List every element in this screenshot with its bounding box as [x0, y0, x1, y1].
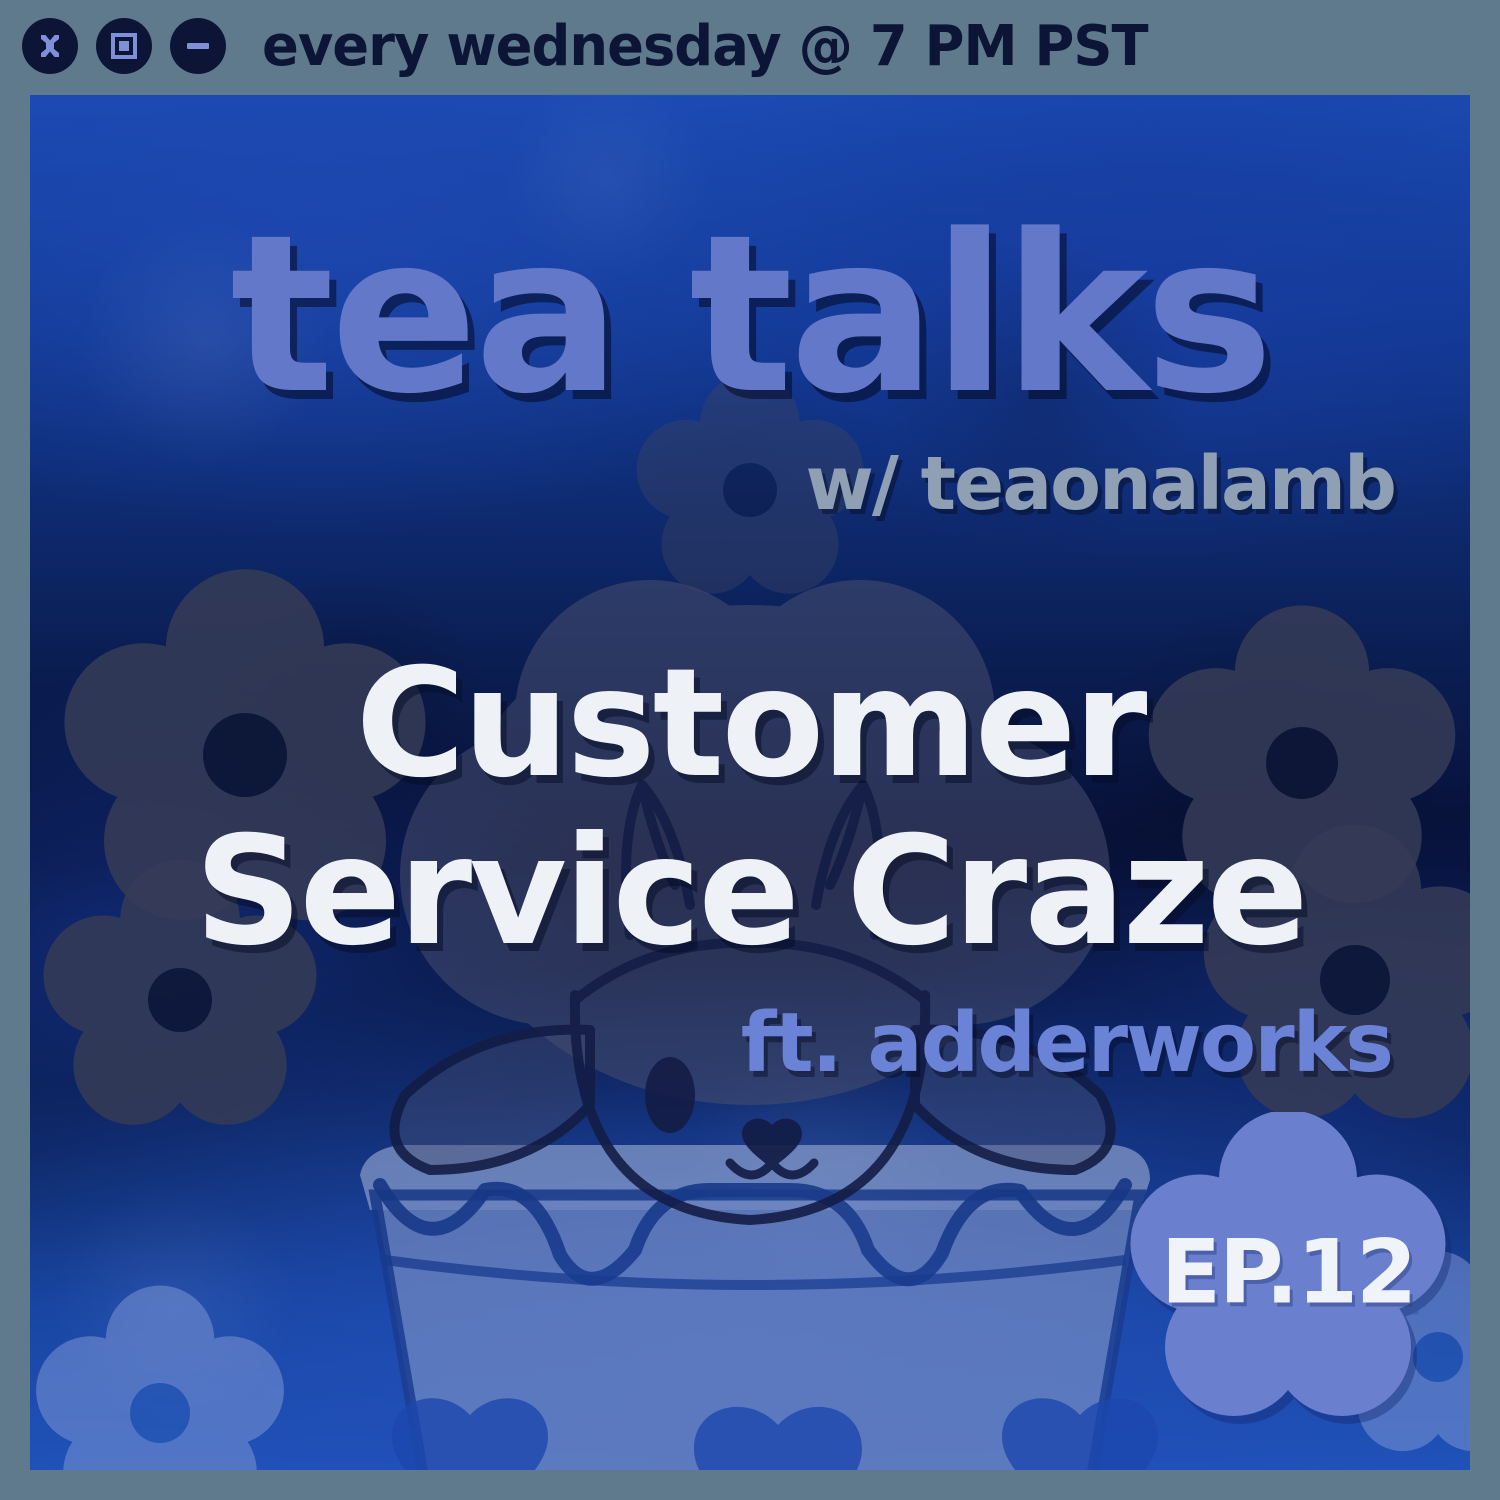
flower-bottom-left — [36, 1286, 284, 1470]
window-title: every wednesday @ 7 PM PST — [262, 14, 1148, 79]
x-icon — [35, 31, 65, 61]
window-frame: every wednesday @ 7 PM PST — [0, 0, 1500, 1500]
poster-artwork-panel: tea talks w/ teaonalamb Customer Service… — [30, 95, 1470, 1470]
square-icon — [109, 31, 139, 61]
show-title: tea talks — [30, 207, 1470, 425]
guest-credit: ft. adderworks — [741, 1003, 1392, 1085]
episode-badge-label: EP.12 — [1128, 1221, 1448, 1324]
minimize-button[interactable] — [170, 18, 226, 74]
episode-badge: EP.12 — [1128, 1112, 1448, 1432]
maximize-button[interactable] — [96, 18, 152, 74]
episode-title: Customer Service Craze — [30, 640, 1470, 976]
host-credit: w/ teaonalamb — [806, 447, 1396, 521]
close-button[interactable] — [22, 18, 78, 74]
title-bar: every wednesday @ 7 PM PST — [0, 0, 1500, 92]
minus-icon — [183, 31, 213, 61]
